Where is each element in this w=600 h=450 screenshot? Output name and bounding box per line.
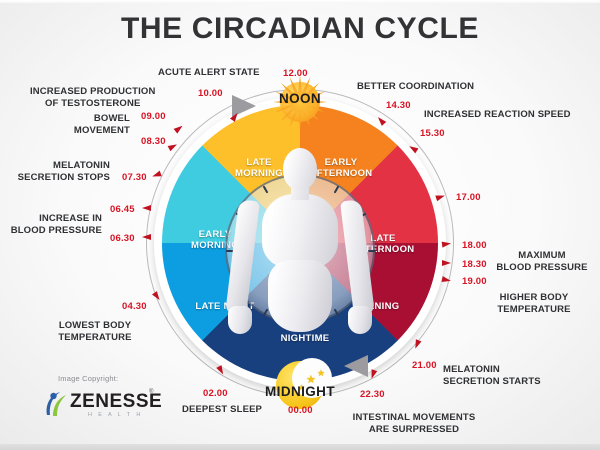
label-increased-reaction-speed: INCREASED REACTION SPEED	[424, 109, 571, 121]
time-00-00: 00.00	[288, 405, 313, 416]
time-02-00: 02.00	[203, 388, 228, 399]
time-08-30: 08.30	[141, 136, 166, 147]
time-19-00: 19.00	[462, 276, 487, 287]
time-14-30: 14.30	[386, 100, 411, 111]
copyright-text: Image Copyright:	[58, 374, 118, 383]
label-melatonin-stops: MELATONIN SECRETION STOPS	[14, 160, 110, 183]
body-hand-right	[348, 306, 372, 334]
noon-label: NOON	[279, 91, 321, 106]
body-hand-left	[228, 306, 252, 334]
page-title: THE CIRCADIAN CYCLE	[0, 14, 600, 44]
time-17-00: 17.00	[456, 192, 481, 203]
logo-subtitle: H E A L T H	[88, 412, 143, 418]
label-melatonin-starts: MELATONIN SECRETION STARTS	[443, 364, 541, 387]
time-18-30: 18.30	[462, 259, 487, 270]
logo-registered-mark: ®	[149, 389, 153, 395]
pin-18-30-icon	[442, 260, 451, 266]
time-06-30: 06.30	[110, 233, 135, 244]
label-better-coordination: BETTER COORDINATION	[357, 81, 474, 93]
label-increase-blood-pressure: INCREASE IN BLOOD PRESSURE	[10, 213, 102, 236]
flow-arrow-bottom-icon	[344, 355, 368, 377]
label-lowest-body-temperature: LOWEST BODY TEMPERATURE	[42, 320, 148, 343]
pin-18-00-icon	[442, 240, 452, 247]
label-higher-body-temperature: HIGHER BODY TEMPERATURE	[478, 292, 590, 315]
time-09-00: 09.00	[141, 111, 166, 122]
label-maximum-blood-pressure: MAXIMUM BLOOD PRESSURE	[490, 250, 594, 273]
time-07-30: 07.30	[122, 172, 147, 183]
label-bowel-movement: BOWEL MOVEMENT	[56, 113, 130, 136]
body-torso	[234, 148, 366, 338]
label-deepest-sleep: DEEPEST SLEEP	[170, 404, 274, 416]
body-head	[283, 148, 317, 190]
infographic-poster: THE CIRCADIAN CYCLE LATE MORNING EARLY A…	[0, 0, 600, 450]
time-21-00: 21.00	[412, 360, 437, 371]
time-06-45: 06.45	[110, 204, 135, 215]
time-22-30: 22.30	[360, 389, 385, 400]
body-chest	[262, 194, 338, 268]
body-hips	[268, 260, 332, 332]
circadian-wheel: LATE MORNING EARLY AFTERNOON LATE AFTERN…	[162, 105, 438, 381]
time-04-30: 04.30	[122, 301, 147, 312]
label-intestinal-movements: INTESTINAL MOVEMENTS ARE SURPRESSED	[328, 412, 500, 435]
midnight-label: MIDNIGHT	[265, 384, 335, 399]
pin-06-45-icon	[142, 205, 151, 211]
clock-tick	[368, 250, 376, 252]
time-18-00: 18.00	[462, 240, 487, 251]
star-icon: ★	[317, 368, 325, 379]
time-15-30: 15.30	[420, 128, 445, 139]
zenesse-logo: ZENESSE ® H E A L T H	[44, 388, 162, 422]
time-10-00: 10.00	[198, 88, 223, 99]
human-body-figure	[234, 148, 366, 338]
label-acute-alert-state: ACUTE ALERT STATE	[158, 67, 260, 79]
pin-06-30-icon	[142, 234, 151, 240]
time-12-00: 12.00	[283, 68, 308, 79]
label-testosterone: INCREASED PRODUCTION OF TESTOSTERONE	[30, 86, 155, 109]
logo-swoosh-icon	[44, 390, 70, 418]
